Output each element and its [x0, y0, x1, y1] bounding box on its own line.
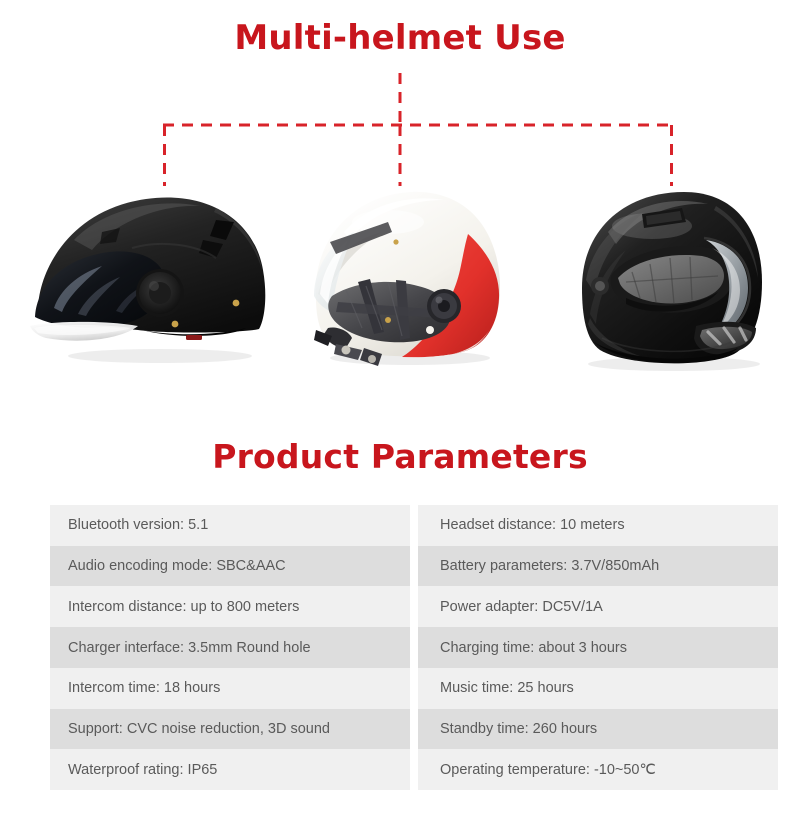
black-full-face-helmet-icon [556, 178, 786, 378]
white-red-open-face-helmet-icon [292, 178, 518, 378]
table-row: Audio encoding mode: SBC&AAC Battery par… [50, 546, 778, 587]
bracket-lines-icon [0, 70, 800, 195]
table-row: Intercom time: 18 hours Music time: 25 h… [50, 668, 778, 709]
column-divider [410, 749, 418, 790]
column-divider [410, 627, 418, 668]
product-parameters-table: Bluetooth version: 5.1 Headset distance:… [50, 505, 778, 790]
helmet-image-white-red-open-face [292, 178, 518, 378]
helmet-image-black-open-face [20, 178, 282, 378]
param-cell-right: Headset distance: 10 meters [418, 505, 778, 546]
black-open-face-helmet-icon [20, 178, 282, 378]
column-divider [410, 709, 418, 750]
param-cell-right: Music time: 25 hours [418, 668, 778, 709]
param-cell-left: Charger interface: 3.5mm Round hole [50, 627, 410, 668]
page-title-multi-helmet: Multi-helmet Use [0, 18, 800, 58]
param-cell-right: Operating temperature: -10~50℃ [418, 749, 778, 790]
param-cell-left: Support: CVC noise reduction, 3D sound [50, 709, 410, 750]
param-cell-left: Audio encoding mode: SBC&AAC [50, 546, 410, 587]
param-cell-right: Battery parameters: 3.7V/850mAh [418, 546, 778, 587]
param-cell-right: Standby time: 260 hours [418, 709, 778, 750]
column-divider [410, 668, 418, 709]
param-cell-left: Bluetooth version: 5.1 [50, 505, 410, 546]
param-cell-left: Intercom time: 18 hours [50, 668, 410, 709]
table-row: Support: CVC noise reduction, 3D sound S… [50, 709, 778, 750]
param-cell-left: Intercom distance: up to 800 meters [50, 586, 410, 627]
param-cell-right: Charging time: about 3 hours [418, 627, 778, 668]
table-row: Waterproof rating: IP65 Operating temper… [50, 749, 778, 790]
helmet-gallery [0, 178, 800, 378]
param-cell-right: Power adapter: DC5V/1A [418, 586, 778, 627]
column-divider [410, 505, 418, 546]
table-row: Bluetooth version: 5.1 Headset distance:… [50, 505, 778, 546]
helmet-image-black-full-face [556, 178, 786, 378]
param-cell-left: Waterproof rating: IP65 [50, 749, 410, 790]
table-row: Intercom distance: up to 800 meters Powe… [50, 586, 778, 627]
column-divider [410, 586, 418, 627]
dashed-bracket-connector [0, 70, 800, 195]
column-divider [410, 546, 418, 587]
page-title-product-parameters: Product Parameters [0, 437, 800, 476]
table-row: Charger interface: 3.5mm Round hole Char… [50, 627, 778, 668]
